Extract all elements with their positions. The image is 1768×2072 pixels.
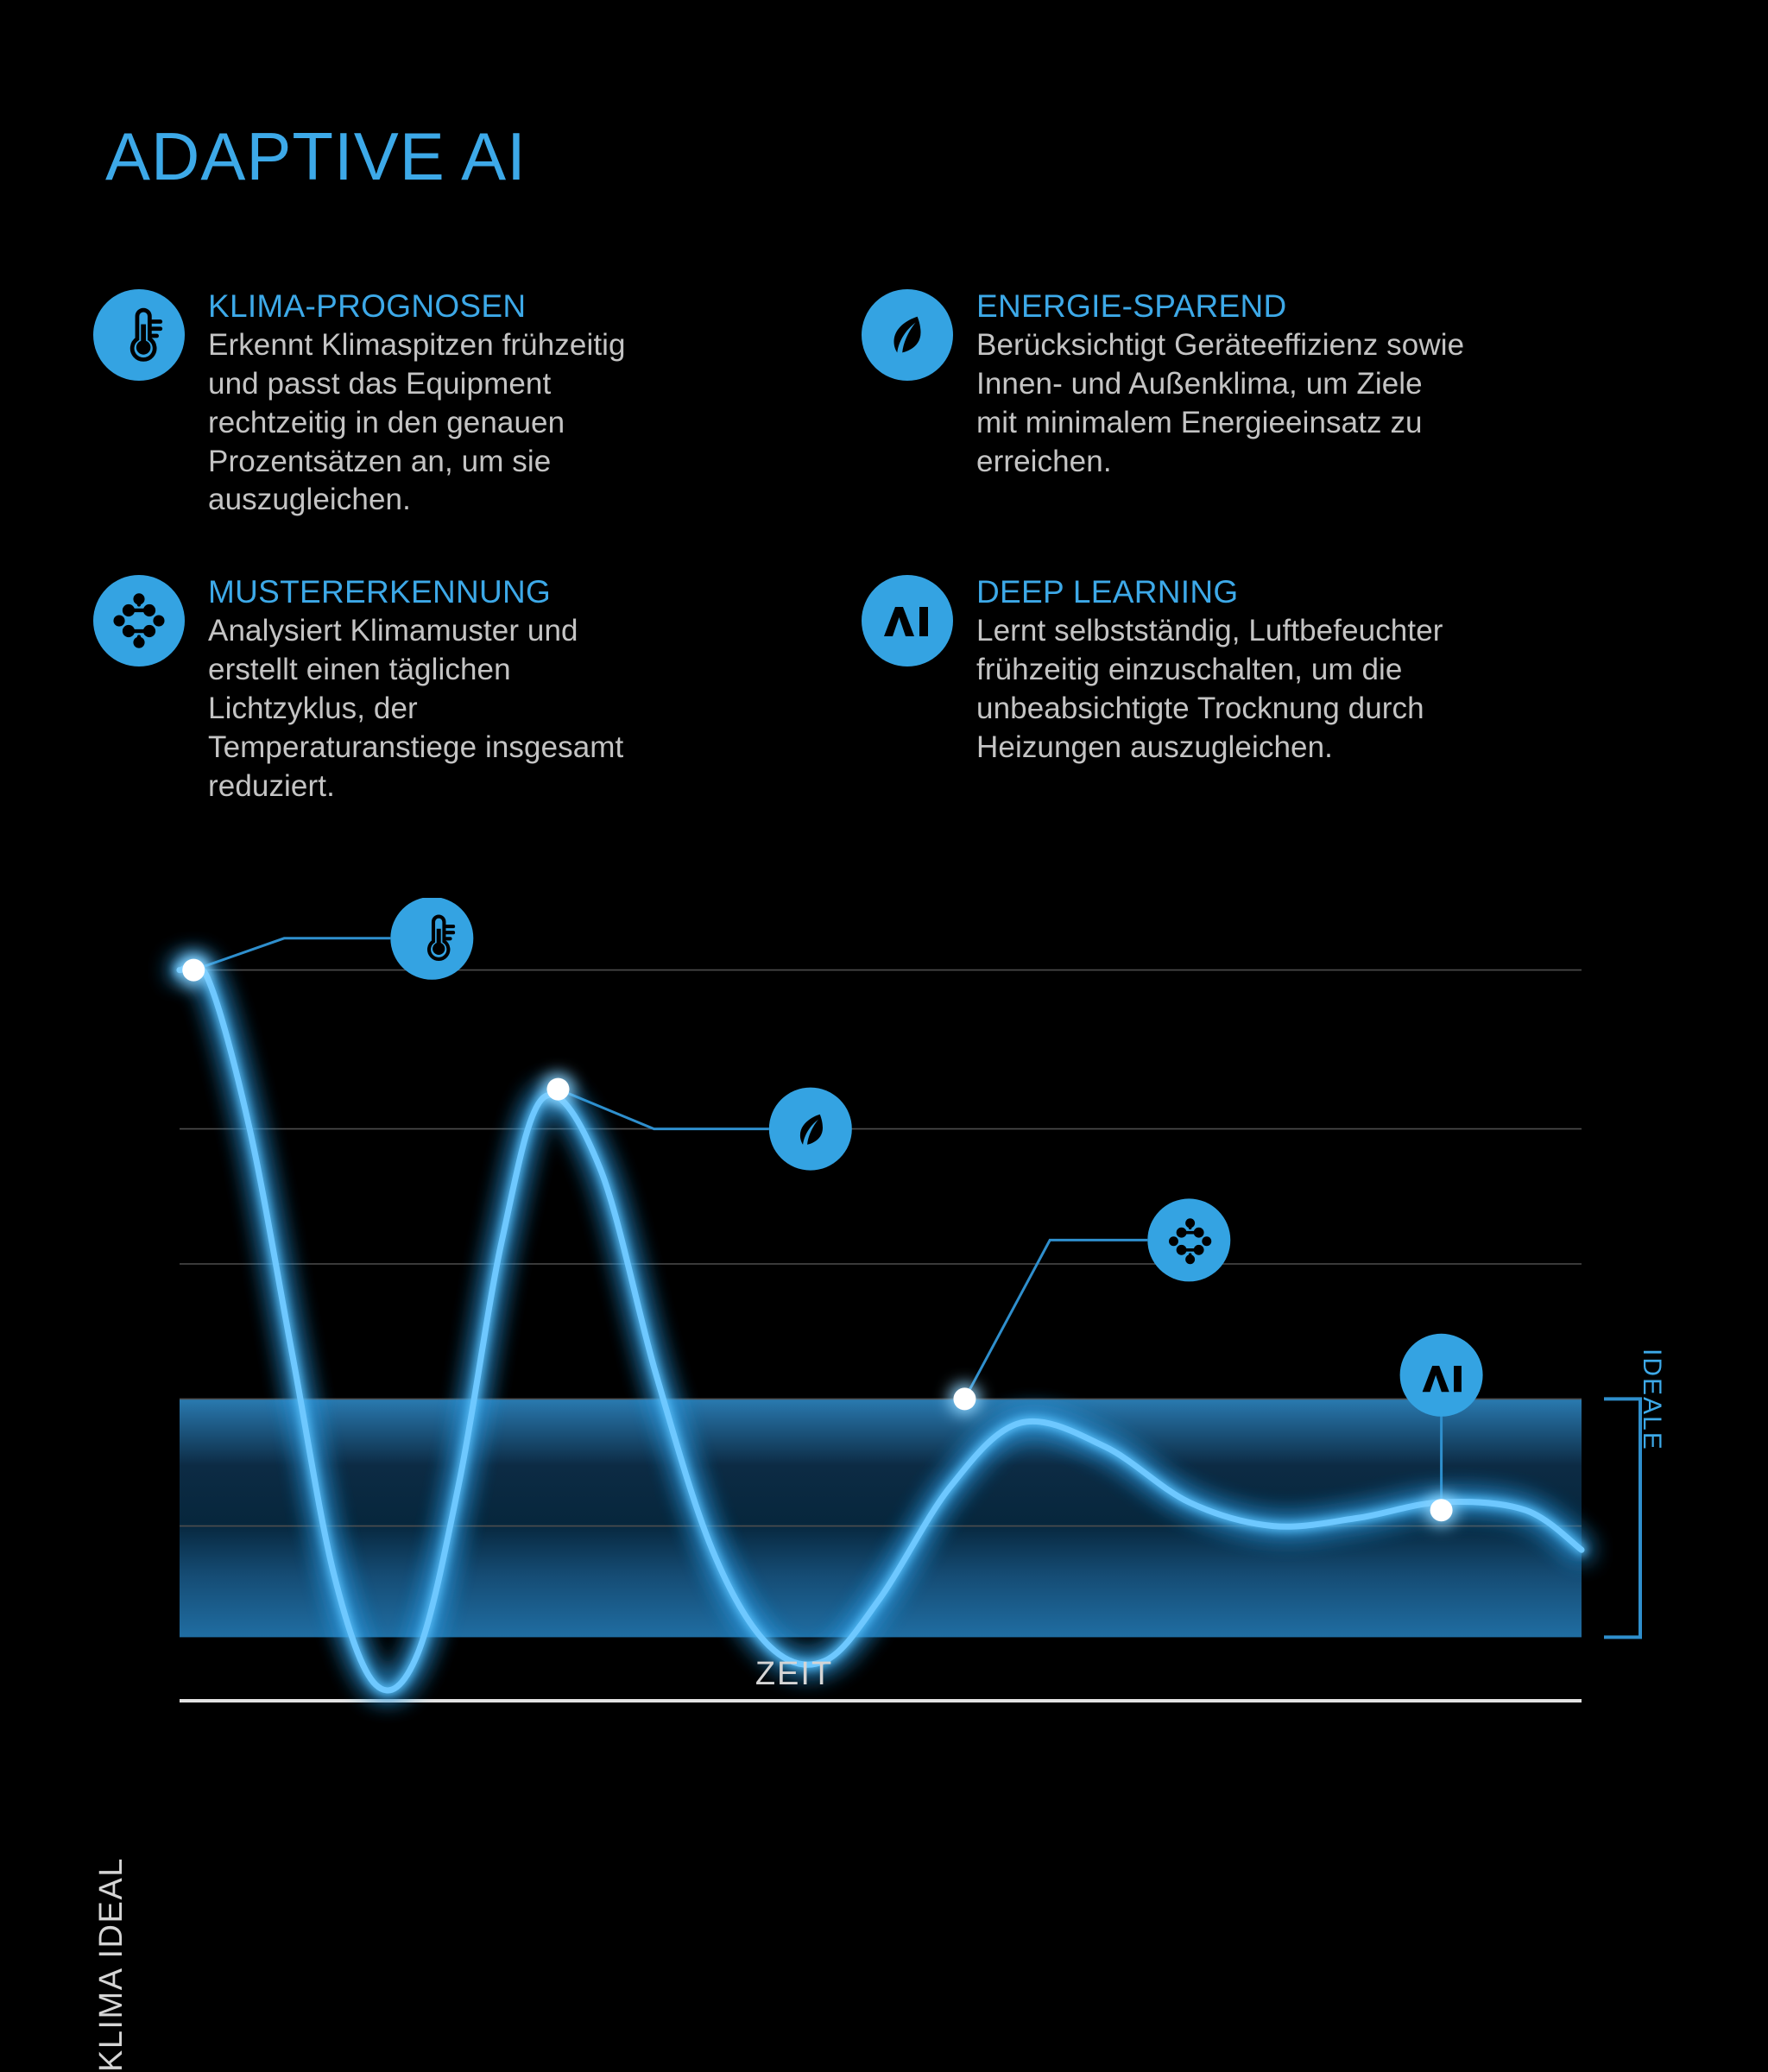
feature-heading: DEEP LEARNING bbox=[976, 575, 1443, 609]
callout-leader-line bbox=[558, 1090, 768, 1129]
data-point-marker[interactable] bbox=[182, 959, 205, 982]
feature-row-1: KLIMA-PROGNOSEN Erkennt Klimaspitzen frü… bbox=[93, 287, 1673, 520]
feature-grid: KLIMA-PROGNOSEN Erkennt Klimaspitzen frü… bbox=[93, 287, 1673, 805]
feature-klima-prognosen[interactable]: KLIMA-PROGNOSEN Erkennt Klimaspitzen frü… bbox=[93, 287, 862, 520]
chart-canvas bbox=[0, 898, 1768, 1768]
feature-text: MUSTERERKENNUNG Analysiert Klimamuster u… bbox=[208, 573, 623, 805]
pattern-nodes-icon-badge-circle bbox=[1147, 1198, 1230, 1281]
callout-badge-thermometer[interactable] bbox=[390, 898, 473, 980]
callout-badge-ai-logo[interactable] bbox=[1400, 1334, 1483, 1417]
feature-row-2: MUSTERERKENNUNG Analysiert Klimamuster u… bbox=[93, 573, 1673, 805]
callout-badge-pattern-nodes[interactable] bbox=[1147, 1198, 1230, 1281]
x-axis-label: ZEIT bbox=[0, 1656, 1588, 1693]
feature-text: ENERGIE-SPAREND Berücksichtigt Geräteeff… bbox=[976, 287, 1464, 481]
infographic-root: ADAPTIVE AI bbox=[0, 0, 1768, 1768]
data-point-marker[interactable] bbox=[546, 1078, 569, 1101]
feature-deep-learning[interactable]: DEEP LEARNING Lernt selbstständig, Luftb… bbox=[862, 573, 1621, 805]
feature-body: Erkennt Klimaspitzen frühzeitig und pass… bbox=[208, 326, 626, 520]
pattern-nodes-icon bbox=[93, 575, 185, 666]
thermometer-icon bbox=[93, 289, 185, 381]
feature-body: Analysiert Klimamuster und erstellt eine… bbox=[208, 612, 623, 805]
feature-heading: MUSTERERKENNUNG bbox=[208, 575, 623, 609]
feature-body: Berücksichtigt Geräteeffizienz sowie Inn… bbox=[976, 326, 1464, 481]
feature-body: Lernt selbstständig, Luftbefeuchter früh… bbox=[976, 612, 1443, 767]
page-title: ADAPTIVE AI bbox=[105, 123, 527, 190]
data-point-marker[interactable] bbox=[953, 1387, 976, 1410]
climate-chart: KLIMA IDEAL bbox=[0, 898, 1768, 1768]
ideale-bracket bbox=[1604, 1399, 1640, 1637]
leaf-icon-badge-circle bbox=[769, 1088, 852, 1171]
leaf-icon bbox=[862, 289, 953, 381]
feature-energie-sparend[interactable]: ENERGIE-SPAREND Berücksichtigt Geräteeff… bbox=[862, 287, 1621, 520]
feature-text: KLIMA-PROGNOSEN Erkennt Klimaspitzen frü… bbox=[208, 287, 626, 520]
feature-mustererkennung[interactable]: MUSTERERKENNUNG Analysiert Klimamuster u… bbox=[93, 573, 862, 805]
ai-logo-icon bbox=[862, 575, 953, 666]
data-point-marker[interactable] bbox=[1430, 1499, 1453, 1521]
callout-badge-leaf[interactable] bbox=[769, 1088, 852, 1171]
ideale-label: IDEALE bbox=[1637, 1349, 1666, 1451]
y-axis-label: KLIMA IDEAL bbox=[93, 1857, 130, 2072]
feature-heading: ENERGIE-SPAREND bbox=[976, 289, 1464, 323]
callout-icon-badges[interactable] bbox=[390, 898, 1482, 1417]
feature-text: DEEP LEARNING Lernt selbstständig, Luftb… bbox=[976, 573, 1443, 767]
callout-leader-line bbox=[193, 938, 390, 970]
feature-heading: KLIMA-PROGNOSEN bbox=[208, 289, 626, 323]
